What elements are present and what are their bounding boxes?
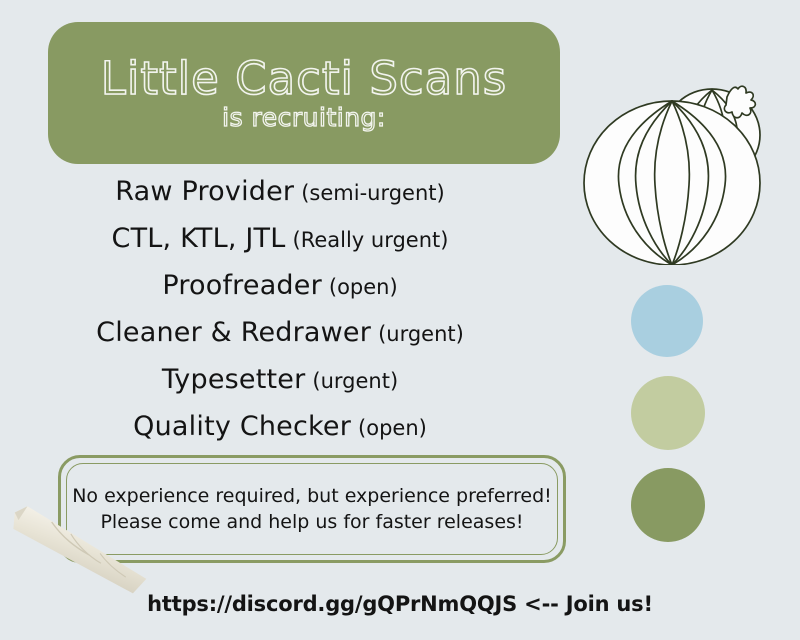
role-item: CTL, KTL, JTL (Really urgent) <box>112 223 449 270</box>
role-status: (semi-urgent) <box>301 181 444 205</box>
role-item: Quality Checker (open) <box>133 411 427 458</box>
role-name: Proofreader <box>162 270 322 301</box>
color-swatch-light-blue <box>631 285 703 357</box>
roles-list: Raw Provider (semi-urgent) CTL, KTL, JTL… <box>30 176 530 458</box>
note-line-1: No experience required, but experience p… <box>72 485 552 507</box>
role-status: (Really urgent) <box>293 228 449 252</box>
role-name: Typesetter <box>162 364 306 395</box>
page-title: Little Cacti Scans <box>101 55 507 102</box>
color-swatch-sage-green <box>631 376 705 450</box>
role-item: Raw Provider (semi-urgent) <box>115 176 444 223</box>
note-box-inner: No experience required, but experience p… <box>66 463 558 555</box>
color-swatch-olive-green <box>631 468 705 542</box>
role-status: (urgent) <box>312 369 398 393</box>
role-name: CTL, KTL, JTL <box>112 223 286 254</box>
role-name: Quality Checker <box>133 411 351 442</box>
banner-subtitle: is recruiting: <box>222 104 386 132</box>
note-box: No experience required, but experience p… <box>58 455 566 563</box>
role-status: (open) <box>358 416 427 440</box>
role-item: Proofreader (open) <box>162 270 397 317</box>
role-name: Cleaner & Redrawer <box>96 317 371 348</box>
cactus-illustration <box>575 35 785 265</box>
role-status: (open) <box>329 275 398 299</box>
role-status: (urgent) <box>378 322 464 346</box>
role-name: Raw Provider <box>115 176 294 207</box>
note-line-2: Please come and help us for faster relea… <box>100 511 523 533</box>
role-item: Cleaner & Redrawer (urgent) <box>96 317 464 364</box>
role-item: Typesetter (urgent) <box>162 364 398 411</box>
discord-invite-link[interactable]: https://discord.gg/gQPrNmQQJS <-- Join u… <box>0 592 800 616</box>
header-banner: Little Cacti Scans is recruiting: <box>48 22 560 164</box>
poster-canvas: Little Cacti Scans is recruiting: <box>0 0 800 640</box>
